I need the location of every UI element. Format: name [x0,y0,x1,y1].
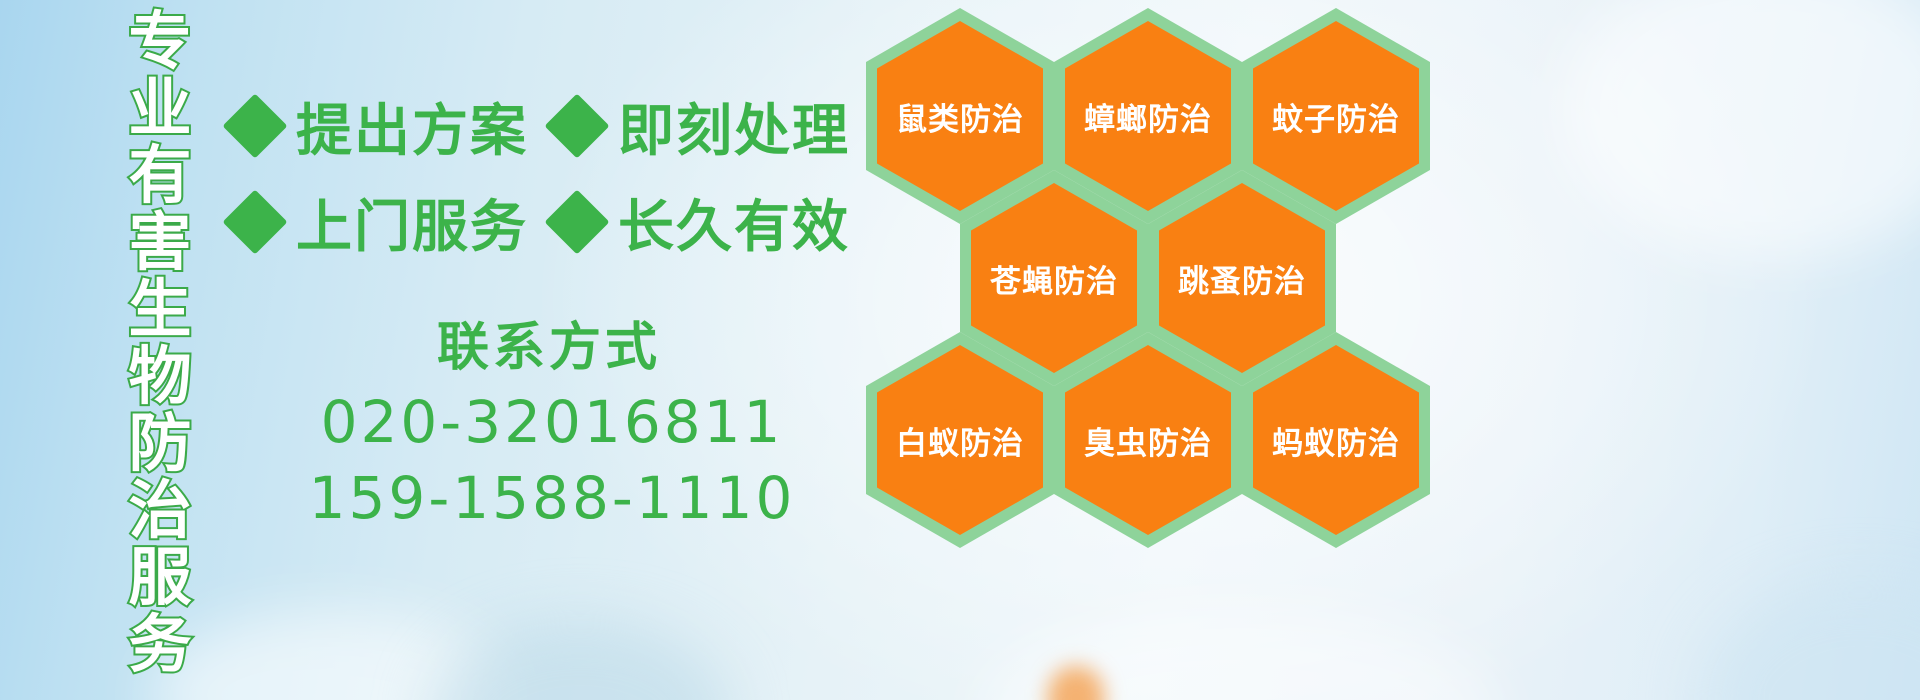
contact-phone-landline[interactable]: 020-32016811 [232,384,872,460]
feature-label: 上门服务 [296,182,528,263]
diamond-bullet-icon [544,93,609,158]
contact-block: 联系方式 020-32016811 159-1588-1110 [232,312,872,536]
hex-cell-label: 白蚁防治 [896,418,1024,463]
vertical-slogan-char: 害 [129,209,192,276]
hex-cell-label: 鼠类防治 [896,94,1024,139]
vertical-slogan-char: 生 [129,276,192,343]
diamond-bullet-icon [222,189,287,254]
vertical-slogan-char: 服 [129,544,192,611]
contact-title: 联系方式 [226,312,872,384]
feature-label: 长久有效 [618,182,850,263]
feature-label: 即刻处理 [618,86,850,167]
feature-item-door-to-door-service: 上门服务 [232,182,528,263]
feature-list: 提出方案 即刻处理 上门服务 长久有效 [232,78,872,270]
feature-row: 上门服务 长久有效 [232,174,872,270]
background-blur-blob [1560,0,1920,260]
background-orange-blob [1048,666,1104,700]
feature-label: 提出方案 [296,86,528,167]
service-honeycomb: 鼠类防治 蟑螂防治 蚊子防治 苍蝇防治 跳蚤防治 白蚁防治 [862,0,1462,560]
background-blur-blob [1700,580,1920,700]
vertical-slogan-char: 专 [129,8,192,75]
feature-item-immediate-handling: 即刻处理 [554,86,850,167]
hex-cell-termite-control[interactable]: 白蚁防治 [866,332,1054,548]
feature-item-long-lasting-effect: 长久有效 [554,182,850,263]
hex-cell-label: 蚊子防治 [1272,94,1400,139]
diamond-bullet-icon [222,93,287,158]
hex-cell-label: 跳蚤防治 [1178,256,1306,301]
vertical-slogan-char: 有 [129,142,192,209]
hex-cell-label: 蚂蚁防治 [1272,418,1400,463]
contact-phone-mobile[interactable]: 159-1588-1110 [232,460,872,536]
diamond-bullet-icon [544,189,609,254]
vertical-slogan-char: 务 [129,611,192,678]
feature-row: 提出方案 即刻处理 [232,78,872,174]
vertical-slogan-char: 物 [129,343,192,410]
hex-cell-ant-control[interactable]: 蚂蚁防治 [1242,332,1430,548]
background-blur-blob [430,620,730,700]
feature-item-propose-plan: 提出方案 [232,86,528,167]
vertical-slogan-char: 防 [129,410,192,477]
promo-banner: 专 业 有 害 生 物 防 治 服 务 提出方案 即刻处理 上门服务 [0,0,1920,700]
vertical-slogan: 专 业 有 害 生 物 防 治 服 务 [104,8,216,568]
background-blur-blob [150,610,510,700]
hex-cell-label: 臭虫防治 [1084,418,1212,463]
vertical-slogan-char: 治 [129,477,192,544]
hex-cell-bedbug-control[interactable]: 臭虫防治 [1054,332,1242,548]
vertical-slogan-char: 业 [129,75,192,142]
hex-cell-label: 蟑螂防治 [1084,94,1212,139]
hex-cell-label: 苍蝇防治 [990,256,1118,301]
